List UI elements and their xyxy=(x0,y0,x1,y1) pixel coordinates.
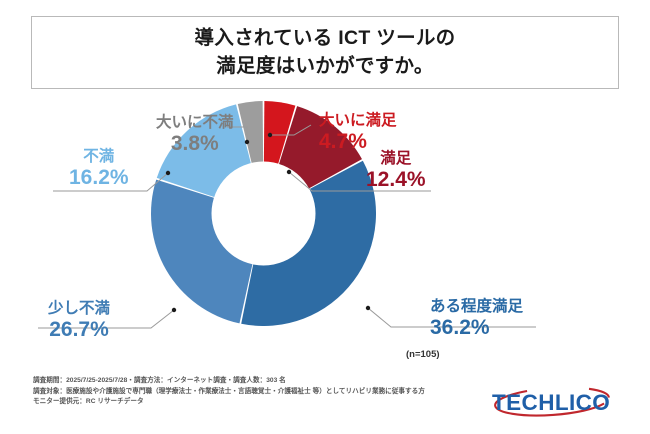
logo-wordmark: TECHLICO xyxy=(492,390,610,416)
page-title-line-2: 満足度はいかがですか。 xyxy=(216,53,433,81)
techlico-logo: TECHLICO xyxy=(488,385,620,419)
survey-note-line-3: モニター提供元：RC リサーチデータ xyxy=(33,397,473,408)
donut-chart: 大いに満足 4.7% 満足 12.4% ある程度満足 36.2% 少し不満 26… xyxy=(31,96,619,371)
slice-label-sukoshi-fuman: 少し不満 26.7% xyxy=(48,301,110,342)
slice-label-aruteido-manzoku-value: 36.2% xyxy=(430,317,523,339)
page-title: 導入されている ICT ツールの 満足度はいかがですか。 xyxy=(31,16,619,89)
slice-label-daiini-fuman: 大いに不満 3.8% xyxy=(156,115,234,156)
slice-label-manzoku-category: 満足 xyxy=(366,151,426,167)
slice-label-daiini-manzoku: 大いに満足 4.7% xyxy=(319,113,397,154)
slice-label-daiini-manzoku-category: 大いに満足 xyxy=(319,113,397,129)
slice-label-sukoshi-fuman-value: 26.7% xyxy=(48,319,110,341)
page-title-line-1: 導入されている ICT ツールの xyxy=(195,25,456,53)
sample-size-label: (n=105) xyxy=(406,349,440,360)
slice-label-fuman: 不満 16.2% xyxy=(69,149,129,190)
slice-label-aruteido-manzoku-category: ある程度満足 xyxy=(430,299,523,315)
slice-label-fuman-value: 16.2% xyxy=(69,167,129,189)
survey-methodology-note: 調査期間：2025/7/25-2025/7/28・調査方法：インターネット調査・… xyxy=(33,376,473,408)
survey-note-line-2: 調査対象：医療施設や介護施設で専門職（理学療法士・作業療法士・言語聴覚士・介護福… xyxy=(33,387,473,398)
slice-label-sukoshi-fuman-category: 少し不満 xyxy=(48,301,110,317)
slice-label-daiini-fuman-category: 大いに不満 xyxy=(156,115,234,131)
slice-label-fuman-category: 不満 xyxy=(69,149,129,165)
slice-label-manzoku: 満足 12.4% xyxy=(366,151,426,192)
survey-chart-page: 導入されている ICT ツールの 満足度はいかがですか。 xyxy=(0,0,650,434)
slice-label-aruteido-manzoku: ある程度満足 36.2% xyxy=(430,299,523,340)
slice-label-daiini-fuman-value: 3.8% xyxy=(156,133,234,155)
survey-note-line-1: 調査期間：2025/7/25-2025/7/28・調査方法：インターネット調査・… xyxy=(33,376,473,387)
slice-label-manzoku-value: 12.4% xyxy=(366,169,426,191)
donut-hole xyxy=(212,162,316,266)
